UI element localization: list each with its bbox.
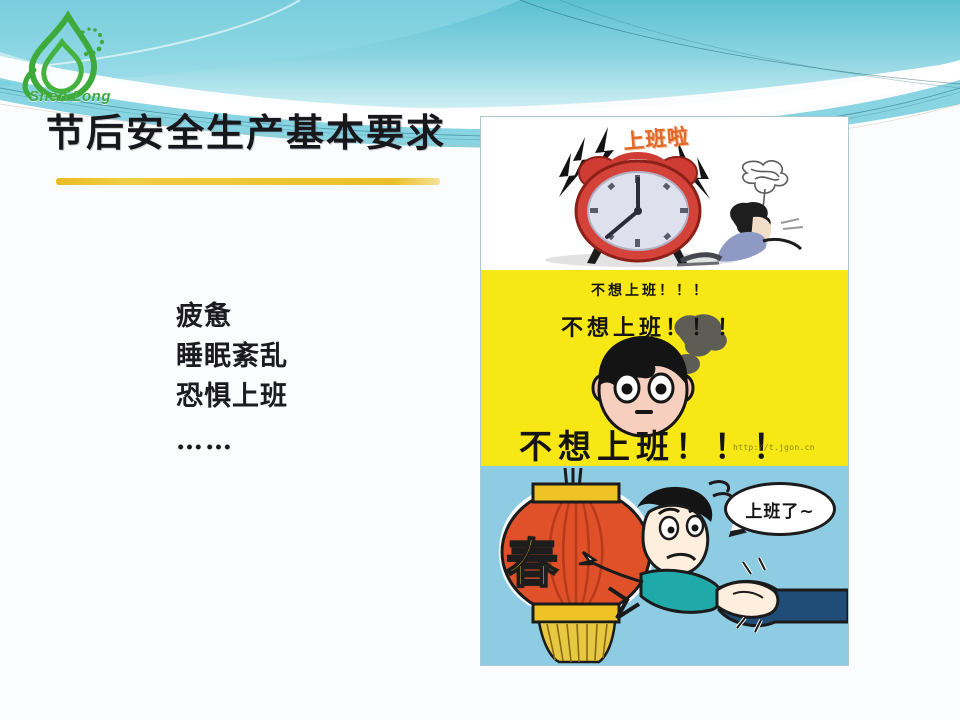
body-ellipsis: ……: [176, 421, 288, 461]
panel-alarm-caption: 上班啦: [622, 120, 690, 156]
illustration-image: 上班啦: [481, 117, 848, 665]
panel-lantern-pulled-back: 春 上班了~: [481, 466, 848, 665]
page-title: 节后安全生产基本要求: [46, 107, 446, 159]
panel-yellow-line-1: 不想上班！！！: [591, 280, 710, 300]
body-line-3: 恐惧上班: [176, 377, 288, 417]
panel-yellow-line-2: 不想上班！！！: [561, 310, 743, 342]
body-line-1: 疲惫: [176, 297, 288, 337]
speech-bubble-text: 上班了~: [745, 497, 814, 522]
speech-bubble: 上班了~: [724, 482, 836, 536]
lantern-character: 春: [506, 522, 558, 597]
company-logo: Shen Long: [10, 8, 122, 112]
body-line-2: 睡眠紊乱: [176, 337, 288, 377]
panel-yellow-watermark: http://t.jgon.cn: [733, 443, 815, 452]
presentation-slide: Shen Long 节后安全生产基本要求 疲惫 睡眠紊乱 恐惧上班 ……: [0, 0, 960, 720]
title-underline-rule: [56, 178, 440, 185]
panel-dont-want-to-work: 不想上班！！！ 不想上班！！！ 不想上班！！！ http://t.jgon.cn: [481, 270, 848, 466]
logo-wordmark: Shen Long: [18, 88, 122, 105]
scribble-cloud-icon: [743, 161, 788, 209]
body-text-block: 疲惫 睡眠紊乱 恐惧上班 ……: [176, 297, 288, 461]
panel-alarm-clock: 上班啦: [481, 117, 848, 270]
grabbing-hand-icon: [717, 558, 848, 632]
